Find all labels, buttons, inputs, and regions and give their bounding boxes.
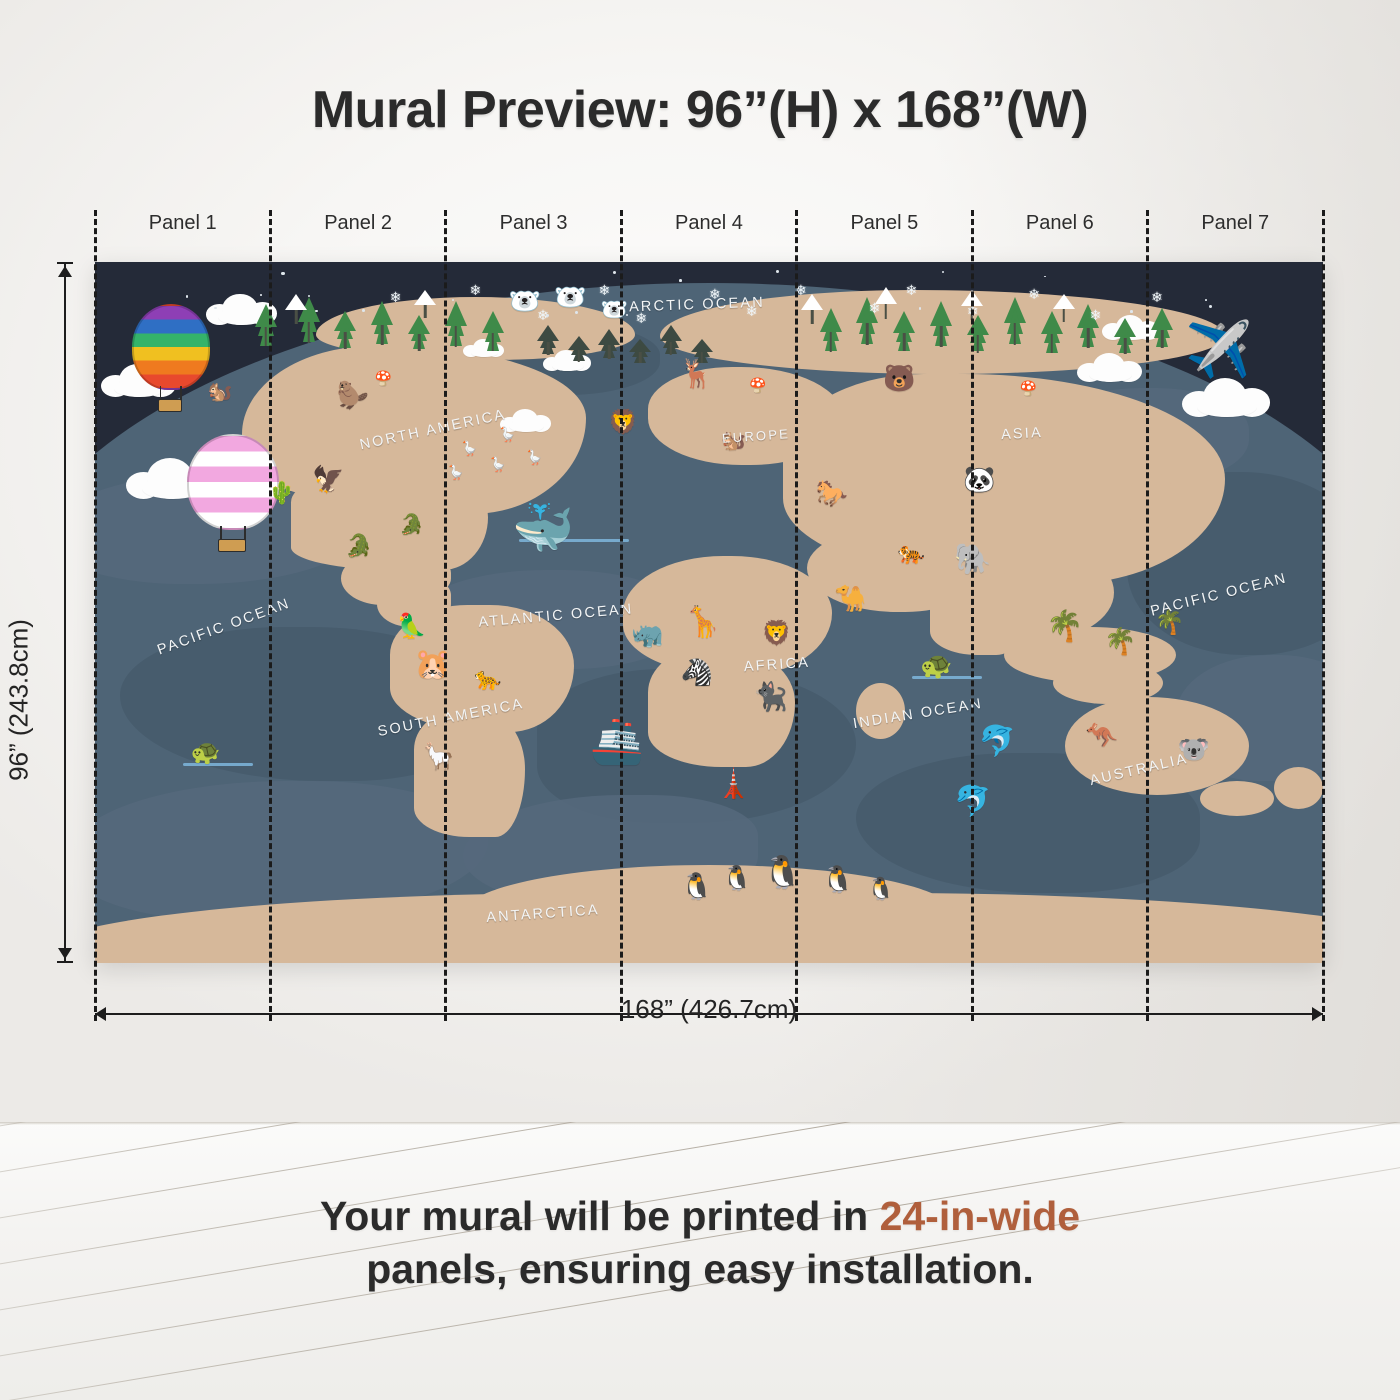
cactus-icon: 🌵 — [268, 482, 295, 504]
snowflake-icon: ❄ — [598, 283, 610, 297]
pine-tree-icon — [482, 311, 504, 351]
polar-bear-icon: 🐻‍❄️ — [554, 284, 586, 310]
snowflake-icon: ❄ — [967, 304, 979, 318]
polar-bear-icon: 🐻‍❄️ — [509, 288, 541, 314]
snowflake-icon: ❄ — [869, 301, 881, 315]
caption-line-2: panels, ensuring easy installation. — [0, 1243, 1400, 1296]
snowflake-icon: ❄ — [795, 283, 807, 297]
pine-tree-icon — [967, 315, 989, 353]
moose-icon: 🦌 — [679, 360, 714, 388]
polar-bear-icon: 🐻‍❄️ — [601, 299, 628, 321]
width-dimension-label: 168” (426.7cm) — [607, 994, 811, 1025]
star-dot — [1130, 310, 1133, 313]
star-dot — [1209, 305, 1212, 308]
parrot-icon: 🦜 — [397, 615, 427, 639]
panda-icon: 🐼 — [963, 466, 995, 492]
lion-icon: 🦁 — [762, 622, 792, 646]
penguin-icon: 🐧 — [867, 878, 894, 900]
giraffe-icon: 🦒 — [684, 608, 721, 638]
pine-tree-icon — [408, 315, 430, 351]
height-dimension-line — [64, 262, 66, 963]
snow-peak-icon — [1053, 294, 1075, 322]
star-dot — [679, 279, 682, 282]
eagle-icon: 🦅 — [312, 466, 344, 492]
pine-tree-icon — [660, 325, 682, 355]
pine-tree-icon — [334, 311, 356, 349]
goose-icon: 🪿 — [489, 457, 506, 471]
goose-icon: 🪿 — [526, 450, 543, 464]
snow-peak-icon — [801, 294, 823, 324]
pine-tree-icon — [1114, 318, 1136, 354]
height-arrow-down — [58, 948, 72, 959]
whale-icon: 🐳 — [512, 503, 574, 553]
dolphin-icon: 🐬 — [954, 787, 991, 817]
star-dot — [281, 272, 284, 275]
pine-tree-icon — [1004, 297, 1026, 345]
pine-tree-icon — [930, 301, 952, 347]
floor-plank — [0, 1122, 1400, 1185]
landmass — [1200, 781, 1274, 816]
penguin-icon: 🐧 — [681, 873, 713, 899]
mushroom-icon: 🍄 — [1020, 381, 1037, 395]
width-arrow-right — [1312, 1007, 1323, 1021]
pine-tree-icon — [1151, 308, 1173, 348]
panel-label-1: Panel 1 — [95, 212, 270, 246]
panel-label-2: Panel 2 — [270, 212, 445, 246]
panel-label-6: Panel 6 — [972, 212, 1147, 246]
pine-tree-icon — [255, 304, 277, 346]
snowflake-icon: ❄ — [905, 283, 917, 297]
airplane-icon: ✈️ — [1185, 323, 1252, 377]
panel-label-5: Panel 5 — [797, 212, 972, 246]
panel-label-3: Panel 3 — [446, 212, 621, 246]
goose-icon: 🪿 — [499, 427, 516, 441]
snowflake-icon: ❄ — [470, 283, 482, 297]
pine-tree-icon — [629, 339, 651, 363]
alligator-icon: 🐊 — [399, 515, 424, 535]
bear-icon: 🐻 — [883, 365, 915, 391]
landmass — [1274, 767, 1323, 809]
page-title: Mural Preview: 96”(H) x 168”(W) — [0, 80, 1400, 140]
penguin-icon: 🐧 — [722, 867, 752, 891]
jaguar-icon: 🐆 — [474, 668, 501, 690]
zebra-icon: 🦓 — [681, 659, 713, 685]
mural-preview-image: ❄❄❄❄❄❄❄❄❄❄❄❄❄❄❄🐻‍❄️🐻‍❄️🐻‍❄️🐿️🦫🦅🌵🪿🪿🪿🪿🪿🐊🐊🐳… — [95, 262, 1323, 963]
height-arrow-up — [58, 266, 72, 277]
lion-icon: 🦁 — [608, 411, 638, 435]
balloon-basket — [218, 539, 246, 552]
rhino-icon: 🦏 — [631, 621, 663, 647]
penguin-icon: 🐧 — [822, 866, 854, 892]
llama-icon: 🦙 — [423, 743, 455, 769]
caption: Your mural will be printed in 24-in-wide… — [0, 1190, 1400, 1297]
floor-wall-edge — [0, 1122, 1400, 1125]
goose-icon: 🪿 — [447, 465, 464, 479]
mushroom-icon: 🍄 — [375, 371, 392, 385]
panther-icon: 🐈‍⬛ — [753, 683, 788, 711]
snow-peak-icon — [285, 294, 307, 324]
kangaroo-icon: 🦘 — [1086, 722, 1118, 748]
beaver-icon: 🦫 — [337, 382, 369, 408]
width-dimension: 168” (426.7cm) — [95, 1000, 1323, 1028]
pine-tree-icon — [537, 325, 559, 355]
height-cap-top — [57, 262, 73, 264]
landmass — [1127, 472, 1176, 535]
snowflake-icon: ❄ — [1090, 308, 1102, 322]
rainbow-balloon — [132, 304, 210, 416]
camel-icon: 🐪 — [834, 585, 866, 611]
horse-icon: 🐎 — [816, 480, 848, 506]
palm-tree-icon: 🌴 — [1104, 628, 1136, 654]
pine-tree-icon — [598, 329, 620, 359]
width-arrow-left — [95, 1007, 106, 1021]
balloon-basket — [158, 399, 181, 412]
height-cap-bottom — [57, 961, 73, 963]
height-dimension — [52, 262, 78, 963]
panel-label-row: Panel 1Panel 2Panel 3Panel 4Panel 5Panel… — [95, 212, 1323, 246]
cloud — [1182, 378, 1273, 417]
caption-accent: 24-in-wide — [880, 1193, 1080, 1239]
palm-tree-icon: 🌴 — [1046, 612, 1083, 642]
snowflake-icon: ❄ — [1028, 287, 1040, 301]
pine-tree-icon — [445, 301, 467, 347]
sea-turtle-icon: 🐢 — [191, 741, 221, 765]
capybara-icon: 🐹 — [414, 650, 451, 680]
pine-tree-icon — [568, 336, 590, 362]
penguin-icon: 🐧 — [763, 856, 803, 888]
elephant-icon: 🐘 — [954, 545, 991, 575]
caption-line-1: Your mural will be printed in 24-in-wide — [0, 1190, 1400, 1243]
snow-peak-icon — [414, 290, 436, 318]
alligator-icon: 🐊 — [345, 535, 372, 557]
squirrel-icon: 🐿️ — [208, 382, 233, 402]
cloud — [1077, 353, 1144, 382]
pine-tree-icon — [371, 301, 393, 345]
panel-label-4: Panel 4 — [621, 212, 796, 246]
sea-turtle-icon: 🐢 — [920, 652, 952, 678]
ship-icon: 🚢 — [589, 720, 644, 764]
panel-label-7: Panel 7 — [1148, 212, 1323, 246]
dolphin-icon: 🐬 — [979, 727, 1016, 757]
goose-icon: 🪿 — [461, 441, 478, 455]
caption-line-1-pre: Your mural will be printed in — [320, 1193, 880, 1239]
tiger-icon: 🐅 — [898, 542, 925, 564]
height-dimension-label: 96” (243.8cm) — [3, 619, 34, 781]
star-dot — [362, 309, 365, 312]
pink-balloon — [187, 434, 279, 556]
snowflake-icon: ❄ — [390, 290, 402, 304]
mushroom-icon: 🍄 — [749, 378, 766, 392]
lighthouse-icon: 🗼 — [716, 770, 751, 798]
star-dot — [315, 310, 317, 312]
snowflake-icon: ❄ — [1151, 290, 1163, 304]
map-label-asia: ASIA — [1001, 425, 1044, 443]
